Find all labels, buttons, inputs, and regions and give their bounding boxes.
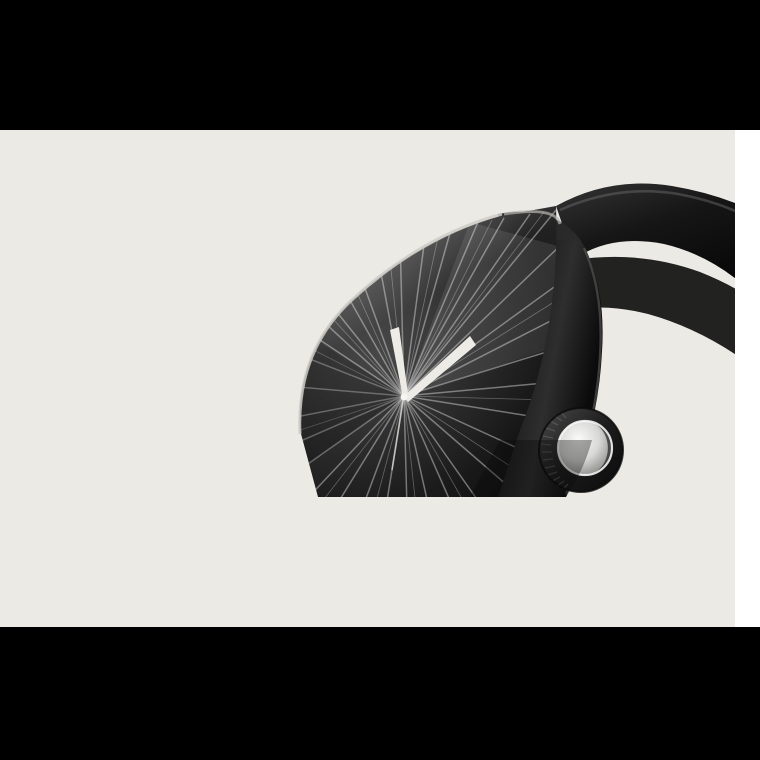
letterbox-bar-top: [0, 0, 760, 130]
product-marketing-image: Strong, Durable Protection Tempered glas…: [0, 0, 760, 760]
content-panel: [0, 130, 735, 627]
letterbox-bar-bottom: [0, 627, 760, 760]
